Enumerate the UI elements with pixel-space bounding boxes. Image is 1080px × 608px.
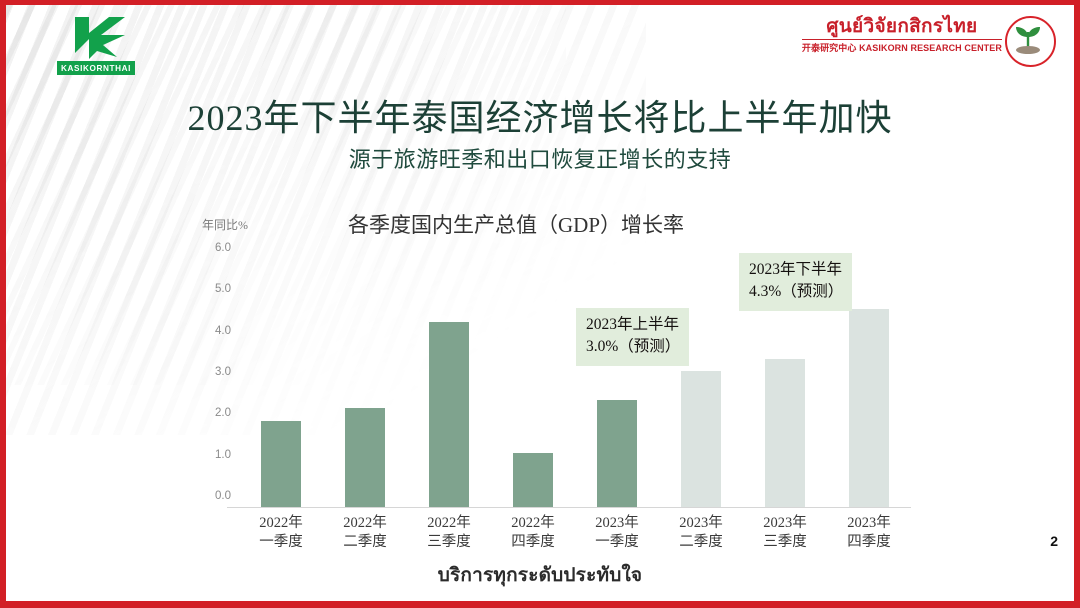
bar (345, 408, 385, 507)
x-axis-label-year: 2023年 (575, 514, 659, 533)
chart-title: 各季度国内生产总值（GDP）增长率 (306, 209, 726, 239)
x-axis-label-quarter: 二季度 (659, 533, 743, 552)
x-axis-label-year: 2023年 (659, 514, 743, 533)
bar-slot (407, 260, 491, 507)
x-axis-label-year: 2023年 (743, 514, 827, 533)
callout-first-half-line2: 3.0%（预测） (586, 336, 680, 358)
footer-slogan: บริการทุกระดับประทับใจ (6, 560, 1074, 590)
page-title: 2023年下半年泰国经济增长将比上半年加快 (6, 89, 1074, 141)
y-axis-tick: 1.0 (215, 449, 231, 461)
x-axis-label-quarter: 四季度 (827, 533, 911, 552)
x-axis-label-year: 2022年 (407, 514, 491, 533)
y-axis-tick: 3.0 (215, 366, 231, 378)
callout-first-half-line1: 2023年上半年 (586, 314, 680, 336)
x-axis-label-quarter: 一季度 (575, 533, 659, 552)
bar-slot (239, 260, 323, 507)
x-axis-label: 2023年一季度 (575, 514, 659, 552)
y-axis-tick: 2.0 (215, 407, 231, 419)
bar (765, 359, 805, 507)
bar-slot (491, 260, 575, 507)
bar-slot (575, 260, 659, 507)
x-axis-label-quarter: 四季度 (491, 533, 575, 552)
x-axis-line (227, 507, 911, 508)
bar-slot (659, 260, 743, 507)
callout-second-half-line2: 4.3%（预测） (749, 281, 843, 303)
x-axis-label-year: 2022年 (491, 514, 575, 533)
kasikorn-k-icon (65, 15, 127, 59)
callout-second-half-line1: 2023年下半年 (749, 259, 843, 281)
y-axis-tick: 6.0 (215, 242, 231, 254)
callout-second-half-2023: 2023年下半年 4.3%（预测） (739, 253, 852, 311)
x-axis-label: 2022年一季度 (239, 514, 323, 552)
x-axis-label: 2023年二季度 (659, 514, 743, 552)
page-subtitle: 源于旅游旺季和出口恢复正增长的支持 (6, 142, 1074, 174)
x-axis-label: 2023年四季度 (827, 514, 911, 552)
y-axis-tick: 0.0 (215, 490, 231, 502)
bar (261, 421, 301, 507)
y-axis-tick: 5.0 (215, 283, 231, 295)
page-number: 2 (1050, 533, 1058, 549)
x-axis-label: 2022年三季度 (407, 514, 491, 552)
krc-seedling-badge (1005, 16, 1056, 67)
callout-first-half-2023: 2023年上半年 3.0%（预测） (576, 308, 689, 366)
bar (429, 322, 469, 507)
y-axis-tick: 4.0 (215, 325, 231, 337)
x-axis-label: 2022年二季度 (323, 514, 407, 552)
x-axis-label-year: 2022年 (323, 514, 407, 533)
kasikorn-research-center-logo: ศูนย์วิจัยกสิกรไทย 开泰研究中心 KASIKORN RESEA… (802, 17, 1002, 54)
x-axis-label-quarter: 三季度 (743, 533, 827, 552)
krc-thai-name: ศูนย์วิจัยกสิกรไทย (802, 17, 1002, 37)
seedling-icon (1007, 18, 1049, 60)
y-axis-unit-label: 年同比% (202, 216, 248, 233)
bar (681, 371, 721, 507)
x-axis-label: 2023年三季度 (743, 514, 827, 552)
x-axis-label-year: 2023年 (827, 514, 911, 533)
bar (597, 400, 637, 507)
x-axis-label-quarter: 一季度 (239, 533, 323, 552)
slide: KASIKORNTHAI ศูนย์วิจัยกสิกรไทย 开泰研究中心 K… (0, 0, 1080, 608)
x-axis-label-year: 2022年 (239, 514, 323, 533)
kasikornthai-wordmark: KASIKORNTHAI (57, 61, 135, 75)
kasikornthai-logo: KASIKORNTHAI (57, 15, 135, 75)
x-axis-label: 2022年四季度 (491, 514, 575, 552)
x-axis-label-quarter: 二季度 (323, 533, 407, 552)
x-axis-labels: 2022年一季度2022年二季度2022年三季度2022年四季度2023年一季度… (239, 514, 911, 552)
bar-slot (323, 260, 407, 507)
bar (849, 309, 889, 507)
krc-divider (802, 39, 1002, 40)
bar (513, 453, 553, 507)
krc-subtitle: 开泰研究中心 KASIKORN RESEARCH CENTER (802, 41, 1002, 54)
x-axis-label-quarter: 三季度 (407, 533, 491, 552)
